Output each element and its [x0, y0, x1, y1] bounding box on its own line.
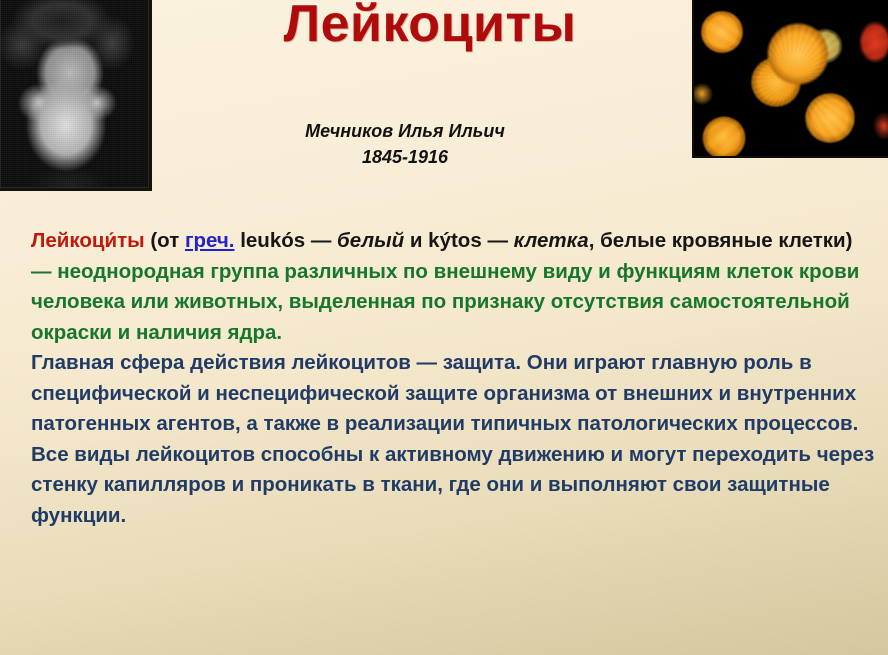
portrait-photo-grain [0, 0, 149, 188]
translation-white: белый [337, 229, 404, 252]
leukocyte-micrograph-texture [694, 0, 888, 156]
portrait-photo [0, 0, 152, 191]
leukocyte-micrograph [692, 0, 888, 158]
definition-dash-3: — [31, 260, 57, 283]
scientist-name: Мечников Илья Ильич [170, 118, 640, 144]
presentation-slide: Лейкоциты Мечников Илья Ильич 1845-1916 … [0, 0, 888, 655]
paragraph-motility: Все виды лейкоцитов способны к активному… [31, 440, 877, 532]
translation-cell: клетка [514, 229, 589, 252]
definition-dash-1: — [311, 229, 337, 252]
definition-dash-2: — [487, 229, 513, 252]
definition-open-paren: (от [145, 229, 185, 252]
paragraph-definition: Лейкоци́ты (от греч. leukós — белый и ký… [31, 226, 877, 348]
scientist-years: 1845-1916 [170, 144, 640, 170]
term-leukocytes: Лейкоци́ты [31, 229, 145, 252]
scientist-caption: Мечников Илья Ильич 1845-1916 [170, 118, 640, 170]
slide-body: Лейкоци́ты (от греч. leukós — белый и ký… [31, 226, 877, 531]
paragraph-defense: Главная сфера действия лейкоцитов — защи… [31, 348, 877, 440]
slide-title: Лейкоциты [170, 0, 690, 53]
greek-source-link[interactable]: греч. [185, 229, 235, 252]
definition-green-text: неоднородная группа различных по внешнем… [31, 260, 859, 344]
greek-word-leukos: leukós [235, 229, 311, 252]
definition-tail-black: , белые кровяные клетки) [589, 229, 853, 252]
greek-word-kytos: и kýtos [404, 229, 487, 252]
